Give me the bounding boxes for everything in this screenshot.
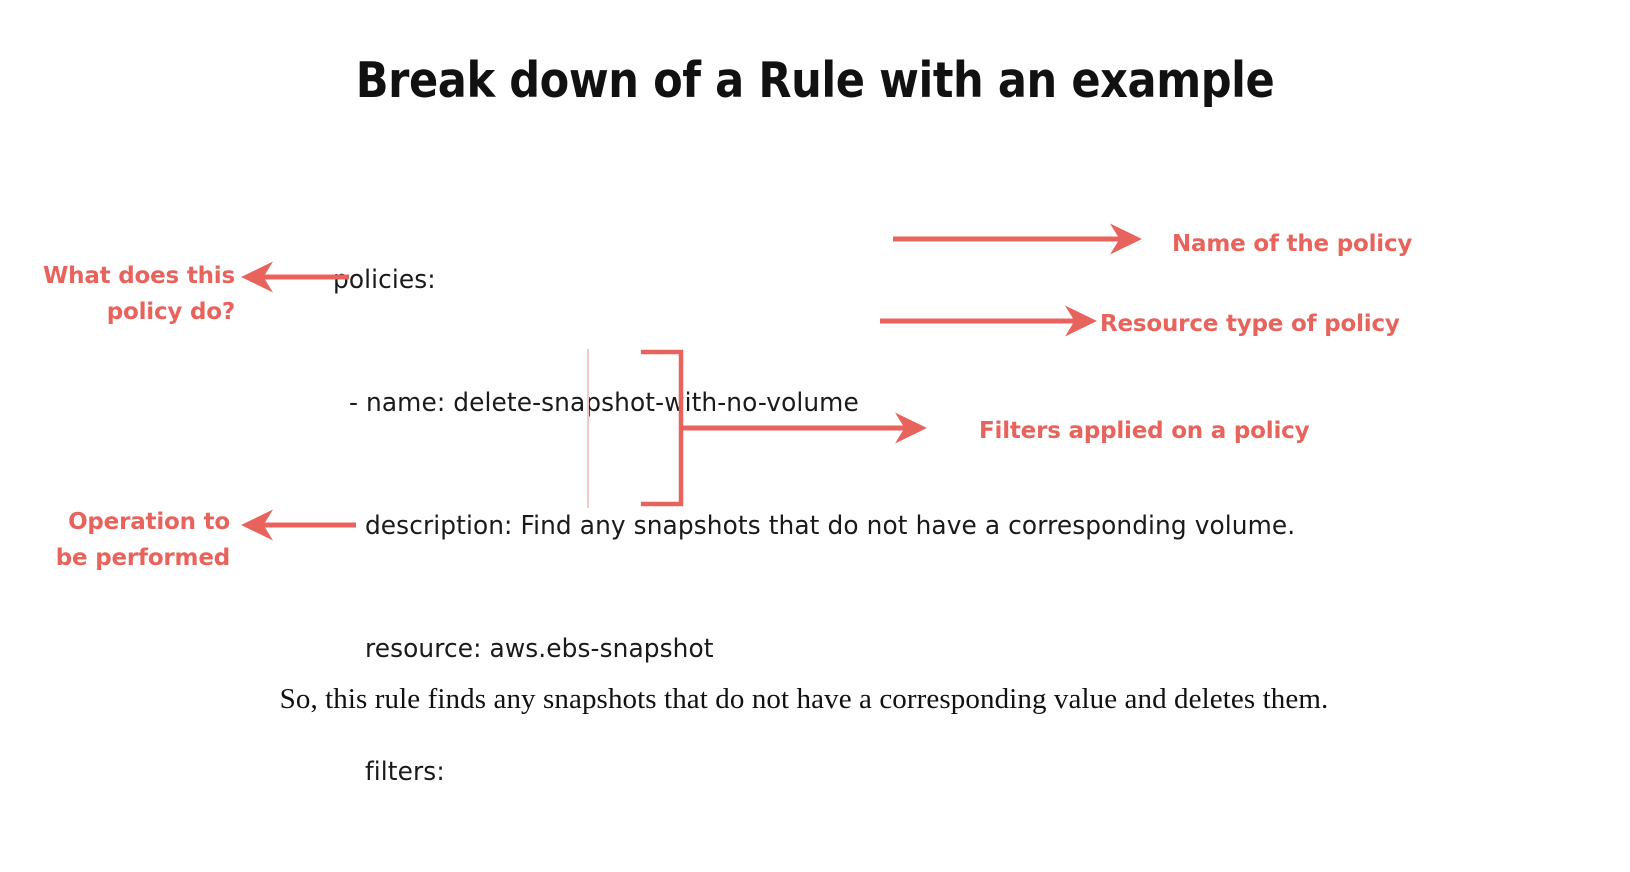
annotation-resource-type-of-policy: Resource type of policy	[1100, 306, 1400, 342]
code-line-resource: resource: aws.ebs-snapshot	[333, 629, 1295, 670]
code-line-description: description: Find any snapshots that do …	[333, 506, 1295, 547]
slide-canvas: Break down of a Rule with an example pol…	[0, 0, 1630, 872]
annotation-filters-applied-on-a-policy: Filters applied on a policy	[979, 413, 1309, 449]
annotation-operation-to-be-performed: Operation to be performed	[40, 504, 230, 576]
summary-sentence: So, this rule finds any snapshots that d…	[0, 683, 1619, 716]
annotation-what-does-this-policy-do: What does this policy do?	[40, 258, 235, 330]
code-line-policies: policies:	[333, 260, 1295, 301]
yaml-code-block: policies: - name: delete-snapshot-with-n…	[333, 178, 1295, 872]
page-title: Break down of a Rule with an example	[98, 52, 1532, 109]
code-line-filters: filters:	[333, 752, 1295, 793]
annotation-name-of-the-policy: Name of the policy	[1172, 226, 1412, 262]
